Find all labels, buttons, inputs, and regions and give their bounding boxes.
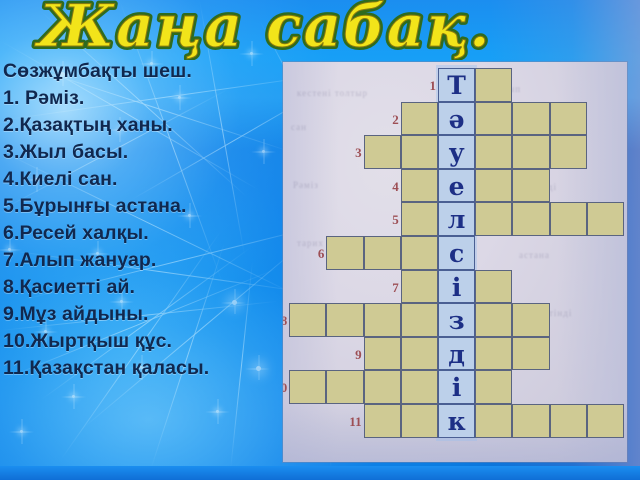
clue-item: 10.Жыртқыш құс. — [3, 328, 288, 355]
crossword-cell[interactable] — [401, 303, 438, 337]
crossword-key-cell[interactable] — [438, 202, 475, 236]
crossword-cell[interactable] — [401, 102, 438, 136]
crossword-cell[interactable] — [401, 337, 438, 371]
clue-list-panel: Сөзжұмбақты шеш. 1. Рәміз.2.Қазақтың хан… — [3, 58, 288, 382]
clue-item: 8.Қасиетті ай. — [3, 274, 288, 301]
crossword-row-number: 9 — [344, 348, 362, 361]
crossword-cell[interactable] — [475, 303, 512, 337]
crossword-row-number: 5 — [381, 213, 399, 226]
background-bottom-strip — [0, 466, 640, 480]
crossword-cell[interactable] — [401, 270, 438, 304]
clue-item: 4.Киелі сан. — [3, 166, 288, 193]
crossword-cell[interactable] — [289, 370, 326, 404]
sparkle — [20, 430, 23, 433]
clue-item: 2.Қазақтың ханы. — [3, 112, 288, 139]
crossword-cell[interactable] — [364, 337, 401, 371]
crossword-cell[interactable] — [401, 202, 438, 236]
crossword-row-number: 6 — [306, 247, 324, 260]
crossword-grid: Т1ә2у3е4л5с6і7з8д9і10к11 — [283, 62, 627, 462]
crossword-cell[interactable] — [475, 270, 512, 304]
crossword-key-cell[interactable] — [438, 102, 475, 136]
crossword-cell[interactable] — [326, 370, 363, 404]
crossword-cell[interactable] — [401, 370, 438, 404]
sparkle — [250, 52, 253, 55]
crossword-cell[interactable] — [512, 202, 549, 236]
crossword-cell[interactable] — [326, 303, 363, 337]
crossword-cell[interactable] — [475, 337, 512, 371]
crossword-cell[interactable] — [475, 370, 512, 404]
clue-item: 6.Ресей халқы. — [3, 220, 288, 247]
crossword-cell[interactable] — [475, 135, 512, 169]
crossword-cell[interactable] — [326, 236, 363, 270]
crossword-cell[interactable] — [550, 404, 587, 438]
clue-item: 11.Қазақстан қаласы. — [3, 355, 288, 382]
crossword-key-cell[interactable] — [438, 169, 475, 203]
crossword-cell[interactable] — [364, 404, 401, 438]
crossword-cell[interactable] — [550, 135, 587, 169]
crossword-key-cell[interactable] — [438, 236, 475, 270]
crossword-cell[interactable] — [512, 135, 549, 169]
crossword-row-number: 3 — [344, 146, 362, 159]
sparkle — [216, 410, 219, 413]
crossword-cell[interactable] — [550, 202, 587, 236]
clue-item: 5.Бұрынғы астана. — [3, 193, 288, 220]
crossword-cell[interactable] — [364, 135, 401, 169]
crossword-cell[interactable] — [587, 202, 624, 236]
clue-list: 1. Рәміз.2.Қазақтың ханы.3.Жыл басы.4.Ки… — [3, 85, 288, 382]
crossword-photo-panel: кестені толтырТақырыпсаноқыРәмізсөздітар… — [283, 62, 627, 462]
crossword-cell[interactable] — [512, 169, 549, 203]
crossword-cell[interactable] — [289, 303, 326, 337]
crossword-key-cell[interactable] — [438, 68, 475, 102]
clue-item: 9.Мұз айдыны. — [3, 301, 288, 328]
crossword-key-cell[interactable] — [438, 370, 475, 404]
crossword-row-number: 7 — [381, 281, 399, 294]
crossword-row-number: 1 — [418, 79, 436, 92]
crossword-cell[interactable] — [475, 102, 512, 136]
crossword-key-cell[interactable] — [438, 135, 475, 169]
clue-item: 7.Алып жануар. — [3, 247, 288, 274]
crossword-key-cell[interactable] — [438, 404, 475, 438]
clue-item: 3.Жыл басы. — [3, 139, 288, 166]
presentation-slide: Жаңа сабақ. Жаңа сабақ. Сөзжұмбақты шеш.… — [0, 0, 640, 480]
crossword-cell[interactable] — [401, 404, 438, 438]
crossword-cell[interactable] — [550, 102, 587, 136]
crossword-cell[interactable] — [401, 236, 438, 270]
crossword-cell[interactable] — [475, 404, 512, 438]
crossword-key-cell[interactable] — [438, 337, 475, 371]
crossword-cell[interactable] — [401, 135, 438, 169]
clue-list-headline: Сөзжұмбақты шеш. — [3, 58, 288, 85]
crossword-cell[interactable] — [401, 169, 438, 203]
sparkle — [72, 395, 75, 398]
crossword-cell[interactable] — [364, 236, 401, 270]
crossword-cell[interactable] — [364, 370, 401, 404]
crossword-cell[interactable] — [512, 303, 549, 337]
crossword-cell[interactable] — [475, 169, 512, 203]
crossword-cell[interactable] — [512, 337, 549, 371]
crossword-cell[interactable] — [475, 68, 512, 102]
crossword-cell[interactable] — [512, 102, 549, 136]
crossword-cell[interactable] — [475, 202, 512, 236]
crossword-cell[interactable] — [512, 404, 549, 438]
crossword-cell[interactable] — [364, 303, 401, 337]
crossword-row-number: 4 — [381, 180, 399, 193]
crossword-row-number: 11 — [344, 415, 362, 428]
crossword-key-cell[interactable] — [438, 303, 475, 337]
crossword-cell[interactable] — [587, 404, 624, 438]
crossword-key-cell[interactable] — [438, 270, 475, 304]
crossword-row-number: 2 — [381, 113, 399, 126]
clue-item: 1. Рәміз. — [3, 85, 288, 112]
crossword-row-number: 10 — [283, 381, 287, 394]
